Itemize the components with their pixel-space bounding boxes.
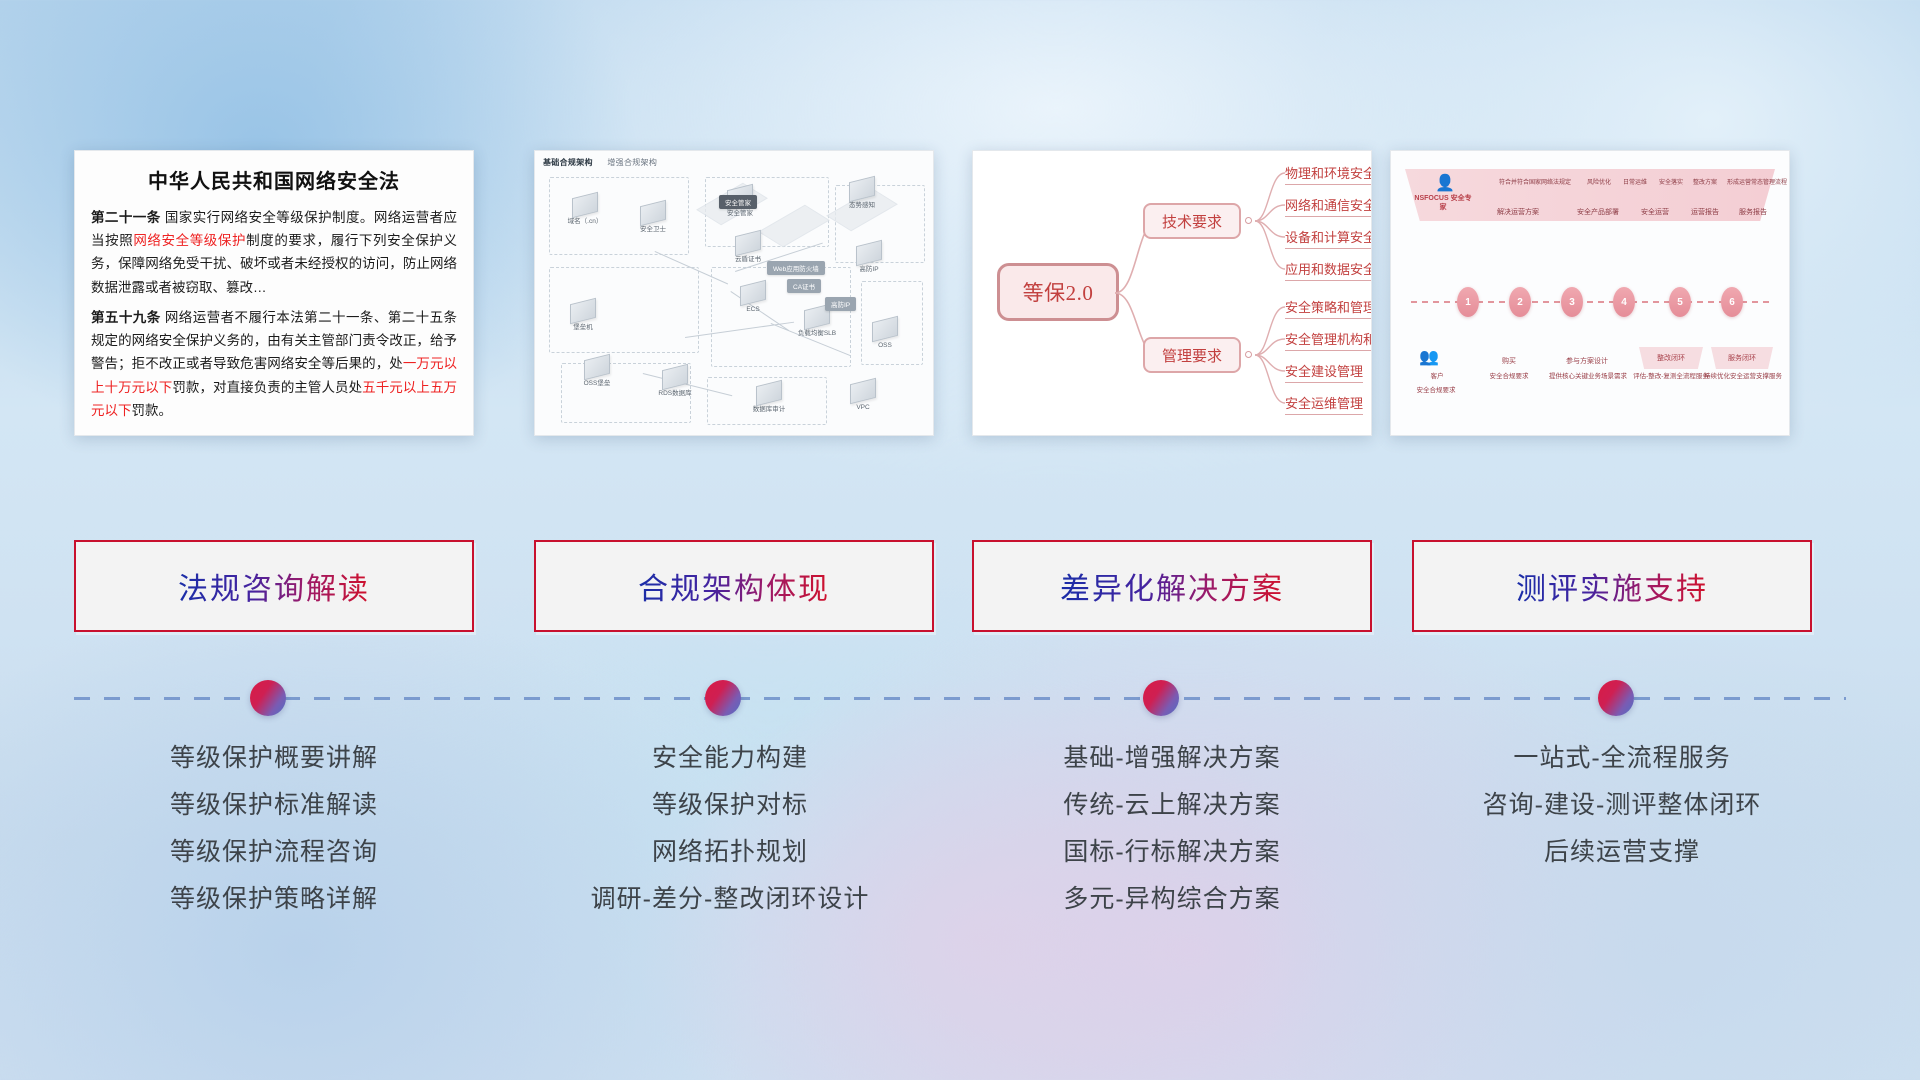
article-59-part2: 罚款，对直接负责的主管人员处: [172, 380, 362, 395]
node-label: 安全管家: [727, 210, 753, 217]
roadmap-chip-0: 符合并符合国家网络法规定: [1499, 177, 1571, 186]
list-item: 等级保护策略详解: [74, 876, 474, 923]
mindmap-diagram: 等保2.0 技术要求 物理和环境安全 网络和通信安全 设备和计算安全: [973, 151, 1371, 435]
node-slb: 负载均衡SLB: [787, 307, 847, 337]
timeline-dot-4[interactable]: [1598, 680, 1634, 716]
oss-bastion-icon: [584, 354, 610, 380]
mindmap-leaf-policy: 安全策略和管理制度: [1285, 297, 1372, 319]
law-card-title: 中华人民共和国网络安全法: [91, 165, 457, 194]
mindmap-branch-technical: 技术要求: [1143, 203, 1241, 239]
list-item: 安全能力构建: [520, 735, 940, 782]
roadmap-chip-5: 形成运营常态管理流程: [1727, 177, 1787, 186]
mindmap-collapse-dot-management[interactable]: [1245, 351, 1252, 358]
heading-label: 法规咨询解读: [178, 564, 370, 608]
ecs-icon: [740, 280, 766, 306]
node-pc-terminal: 高防IP: [845, 243, 893, 273]
mindmap-leaf-opsmaint: 安全运维管理: [1285, 393, 1363, 415]
node-bastion: 域名（.cn）: [561, 195, 609, 225]
node-vpc: VPC: [843, 381, 883, 411]
node-rds: RDS数据库: [647, 367, 703, 397]
roadmap-phase-1: 安全产品部署: [1577, 207, 1619, 217]
heading-box-assessment-support[interactable]: 测评实施支持: [1412, 540, 1812, 632]
list-item: 传统-云上解决方案: [972, 782, 1372, 829]
roadmap-mid-title-0: 购买: [1487, 357, 1531, 366]
column-regulation-consulting: 等级保护概要讲解 等级保护标准解读 等级保护流程咨询 等级保护策略详解: [74, 735, 474, 923]
audit-icon: [756, 380, 782, 406]
rds-icon: [662, 364, 688, 390]
oss-icon: [872, 316, 898, 342]
timeline-dot-3[interactable]: [1143, 680, 1179, 716]
pill-security-manager: 安全管家: [719, 195, 757, 209]
detail-columns: 等级保护概要讲解 等级保护标准解读 等级保护流程咨询 等级保护策略详解 安全能力…: [0, 735, 1920, 975]
list-item: 后续运营支撑: [1412, 829, 1832, 876]
roadmap-banner-1: 服务闭环: [1711, 347, 1773, 369]
roadmap-step-5: 5: [1669, 287, 1691, 317]
roadmap-diagram: 👤 NSFOCUS 安全专家 符合并符合国家网络法规定 风险优化 日常运维 安全…: [1391, 151, 1789, 435]
bastion-icon: [570, 298, 596, 324]
list-item: 等级保护标准解读: [74, 782, 474, 829]
article-59-label: 第五十九条: [91, 310, 161, 325]
node-db-audit: 数据库审计: [739, 383, 799, 413]
heading-box-differentiated-solution[interactable]: 差异化解决方案: [972, 540, 1372, 632]
pill-waf: Web应用防火墙: [767, 261, 825, 275]
mindmap-branch2-connectors: [1253, 295, 1287, 415]
roadmap-customer-sub: 安全合规要求: [1401, 387, 1471, 395]
roadmap-chip-2: 日常运维: [1623, 177, 1647, 186]
list-item: 等级保护概要讲解: [74, 735, 474, 782]
roadmap-mid-sub-0: 安全合规要求: [1475, 373, 1543, 381]
roadmap-banner-sub-0: 评估-整改-复测全流程服务: [1631, 373, 1711, 381]
roadmap-banner-sub-1: 持续优化安全运营支撑服务: [1703, 373, 1783, 381]
node-oss-bastion: OSS堡垒: [569, 357, 625, 387]
node-oss: OSS: [865, 319, 905, 349]
node-label: 态势感知: [849, 202, 875, 209]
law-article-59: 第五十九条 网络运营者不履行本法第二十一条、第二十五条规定的网络安全保护义务的，…: [91, 306, 457, 422]
node-ecs: ECS: [731, 283, 775, 313]
roadmap-chip-4: 整改方案: [1693, 177, 1717, 186]
pill-ca-cert: CA证书: [787, 279, 821, 293]
customer-person-icon: 👥: [1419, 347, 1439, 367]
article-21-label: 第二十一条: [91, 210, 161, 225]
law-card-body: 中华人民共和国网络安全法 第二十一条 国家实行网络安全等级保护制度。网络运营者应…: [75, 151, 473, 432]
column-compliance-architecture: 安全能力构建 等级保护对标 网络拓扑规划 调研-差分-整改闭环设计: [520, 735, 940, 923]
node-bastion-host: 堡垒机: [557, 301, 609, 331]
list-item: 国标-行标解决方案: [972, 829, 1372, 876]
column-assessment-support: 一站式-全流程服务 咨询-建设-测评整体闭环 后续运营支撑: [1412, 735, 1832, 876]
roadmap-phase-3: 运营报告: [1691, 207, 1719, 217]
roadmap-mid-sub-1: 提供核心关键业务场景需求: [1545, 373, 1631, 381]
heading-label: 合规架构体现: [638, 564, 830, 608]
timeline-dashed-line: [74, 697, 1846, 700]
list-item: 咨询-建设-测评整体闭环: [1412, 782, 1832, 829]
timeline: [0, 680, 1920, 720]
roadmap-banner-0: 整改闭环: [1639, 347, 1703, 369]
cert-icon: [735, 230, 761, 256]
roadmap-step-6: 6: [1721, 287, 1743, 317]
mindmap-branch-management: 管理要求: [1143, 337, 1241, 373]
node-label: 云盾证书: [735, 256, 761, 263]
mindmap-card: 等保2.0 技术要求 物理和环境安全 网络和通信安全 设备和计算安全: [972, 150, 1372, 436]
article-59-part3: 罚款。: [132, 403, 173, 418]
monitor-icon: [849, 176, 875, 202]
mindmap-collapse-dot-technical[interactable]: [1245, 217, 1252, 224]
column-differentiated-solution: 基础-增强解决方案 传统-云上解决方案 国标-行标解决方案 多元-异构综合方案: [972, 735, 1372, 923]
architecture-tabs: 基础合规架构 增强合规架构: [543, 157, 669, 168]
mindmap-leaf-network: 网络和通信安全: [1285, 195, 1372, 217]
timeline-dot-2[interactable]: [705, 680, 741, 716]
roadmap-chip-1: 风险优化: [1587, 177, 1611, 186]
vpc-icon: [850, 378, 876, 404]
node-label: ECS: [746, 306, 759, 313]
mindmap-branch1-connectors: [1253, 161, 1287, 281]
roadmap-chip-3: 安全落实: [1659, 177, 1683, 186]
infographic-canvas: 中华人民共和国网络安全法 第二十一条 国家实行网络安全等级保护制度。网络运营者应…: [0, 0, 1920, 1080]
node-label: 域名（.cn）: [568, 218, 603, 225]
roadmap-customer-label: 客户: [1413, 373, 1461, 381]
mindmap-root-node: 等保2.0: [997, 263, 1119, 321]
mindmap-leaf-org: 安全管理机构和人员: [1285, 329, 1372, 351]
list-item: 基础-增强解决方案: [972, 735, 1372, 782]
node-label: 负载均衡SLB: [798, 330, 836, 337]
roadmap-step-4: 4: [1613, 287, 1635, 317]
node-situational-awareness: 态势感知: [835, 179, 889, 209]
roadmap-phase-2: 安全运营: [1641, 207, 1669, 217]
heading-row: 法规咨询解读 合规架构体现 差异化解决方案 测评实施支持: [0, 540, 1920, 650]
heading-label: 差异化解决方案: [1060, 564, 1284, 608]
pc-icon: [856, 240, 882, 266]
architecture-diagram: 基础合规架构 增强合规架构: [535, 151, 933, 435]
heading-box-compliance-architecture[interactable]: 合规架构体现: [534, 540, 934, 632]
roadmap-card: 👤 NSFOCUS 安全专家 符合并符合国家网络法规定 风险优化 日常运维 安全…: [1390, 150, 1790, 436]
node-label: OSS: [878, 342, 892, 349]
list-item: 网络拓扑规划: [520, 829, 940, 876]
node-label: 数据库审计: [753, 406, 786, 413]
mindmap-leaf-build: 安全建设管理: [1285, 361, 1363, 383]
architecture-tab-enhanced: 增强合规架构: [607, 158, 657, 167]
list-item: 一站式-全流程服务: [1412, 735, 1832, 782]
node-label: 高防IP: [859, 266, 878, 273]
heading-box-regulation-consulting[interactable]: 法规咨询解读: [74, 540, 474, 632]
node-cloud-cert: 云盾证书: [721, 233, 775, 263]
node-label: VPC: [856, 404, 869, 411]
node-label: RDS数据库: [658, 390, 691, 397]
node-label: OSS堡垒: [584, 380, 611, 387]
roadmap-phase-0: 解决运营方案: [1497, 207, 1539, 217]
roadmap-brand-label: NSFOCUS 安全专家: [1411, 195, 1475, 213]
roadmap-step-3: 3: [1561, 287, 1583, 317]
node-cloud-shield: 安全卫士: [629, 203, 677, 233]
list-item: 等级保护流程咨询: [74, 829, 474, 876]
roadmap-mid-title-1: 参与方案设计: [1551, 357, 1623, 366]
law-article-21: 第二十一条 国家实行网络安全等级保护制度。网络运营者应当按照网络安全等级保护制度…: [91, 206, 457, 299]
expert-person-icon: 👤: [1435, 173, 1455, 193]
roadmap-phase-4: 服务报告: [1739, 207, 1767, 217]
server-icon: [572, 192, 598, 218]
mindmap-leaf-application: 应用和数据安全: [1285, 259, 1372, 281]
article-21-highlight: 网络安全等级保护: [133, 233, 246, 248]
roadmap-step-1: 1: [1457, 287, 1479, 317]
mindmap-leaf-physical: 物理和环境安全: [1285, 163, 1372, 185]
node-label: 堡垒机: [573, 324, 593, 331]
heading-label: 测评实施支持: [1516, 564, 1708, 608]
timeline-dot-1[interactable]: [250, 680, 286, 716]
mindmap-leaf-device: 设备和计算安全: [1285, 227, 1372, 249]
roadmap-step-2: 2: [1509, 287, 1531, 317]
image-card-row: 中华人民共和国网络安全法 第二十一条 国家实行网络安全等级保护制度。网络运营者应…: [0, 150, 1920, 440]
list-item: 多元-异构综合方案: [972, 876, 1372, 923]
pill-anti-ddos: 高防IP: [825, 297, 856, 311]
law-card: 中华人民共和国网络安全法 第二十一条 国家实行网络安全等级保护制度。网络运营者应…: [74, 150, 474, 436]
architecture-card: 基础合规架构 增强合规架构: [534, 150, 934, 436]
shield-icon: [640, 200, 666, 226]
list-item: 等级保护对标: [520, 782, 940, 829]
node-label: 安全卫士: [640, 226, 666, 233]
list-item: 调研-差分-整改闭环设计: [520, 876, 940, 923]
architecture-tab-basic: 基础合规架构: [543, 158, 593, 167]
